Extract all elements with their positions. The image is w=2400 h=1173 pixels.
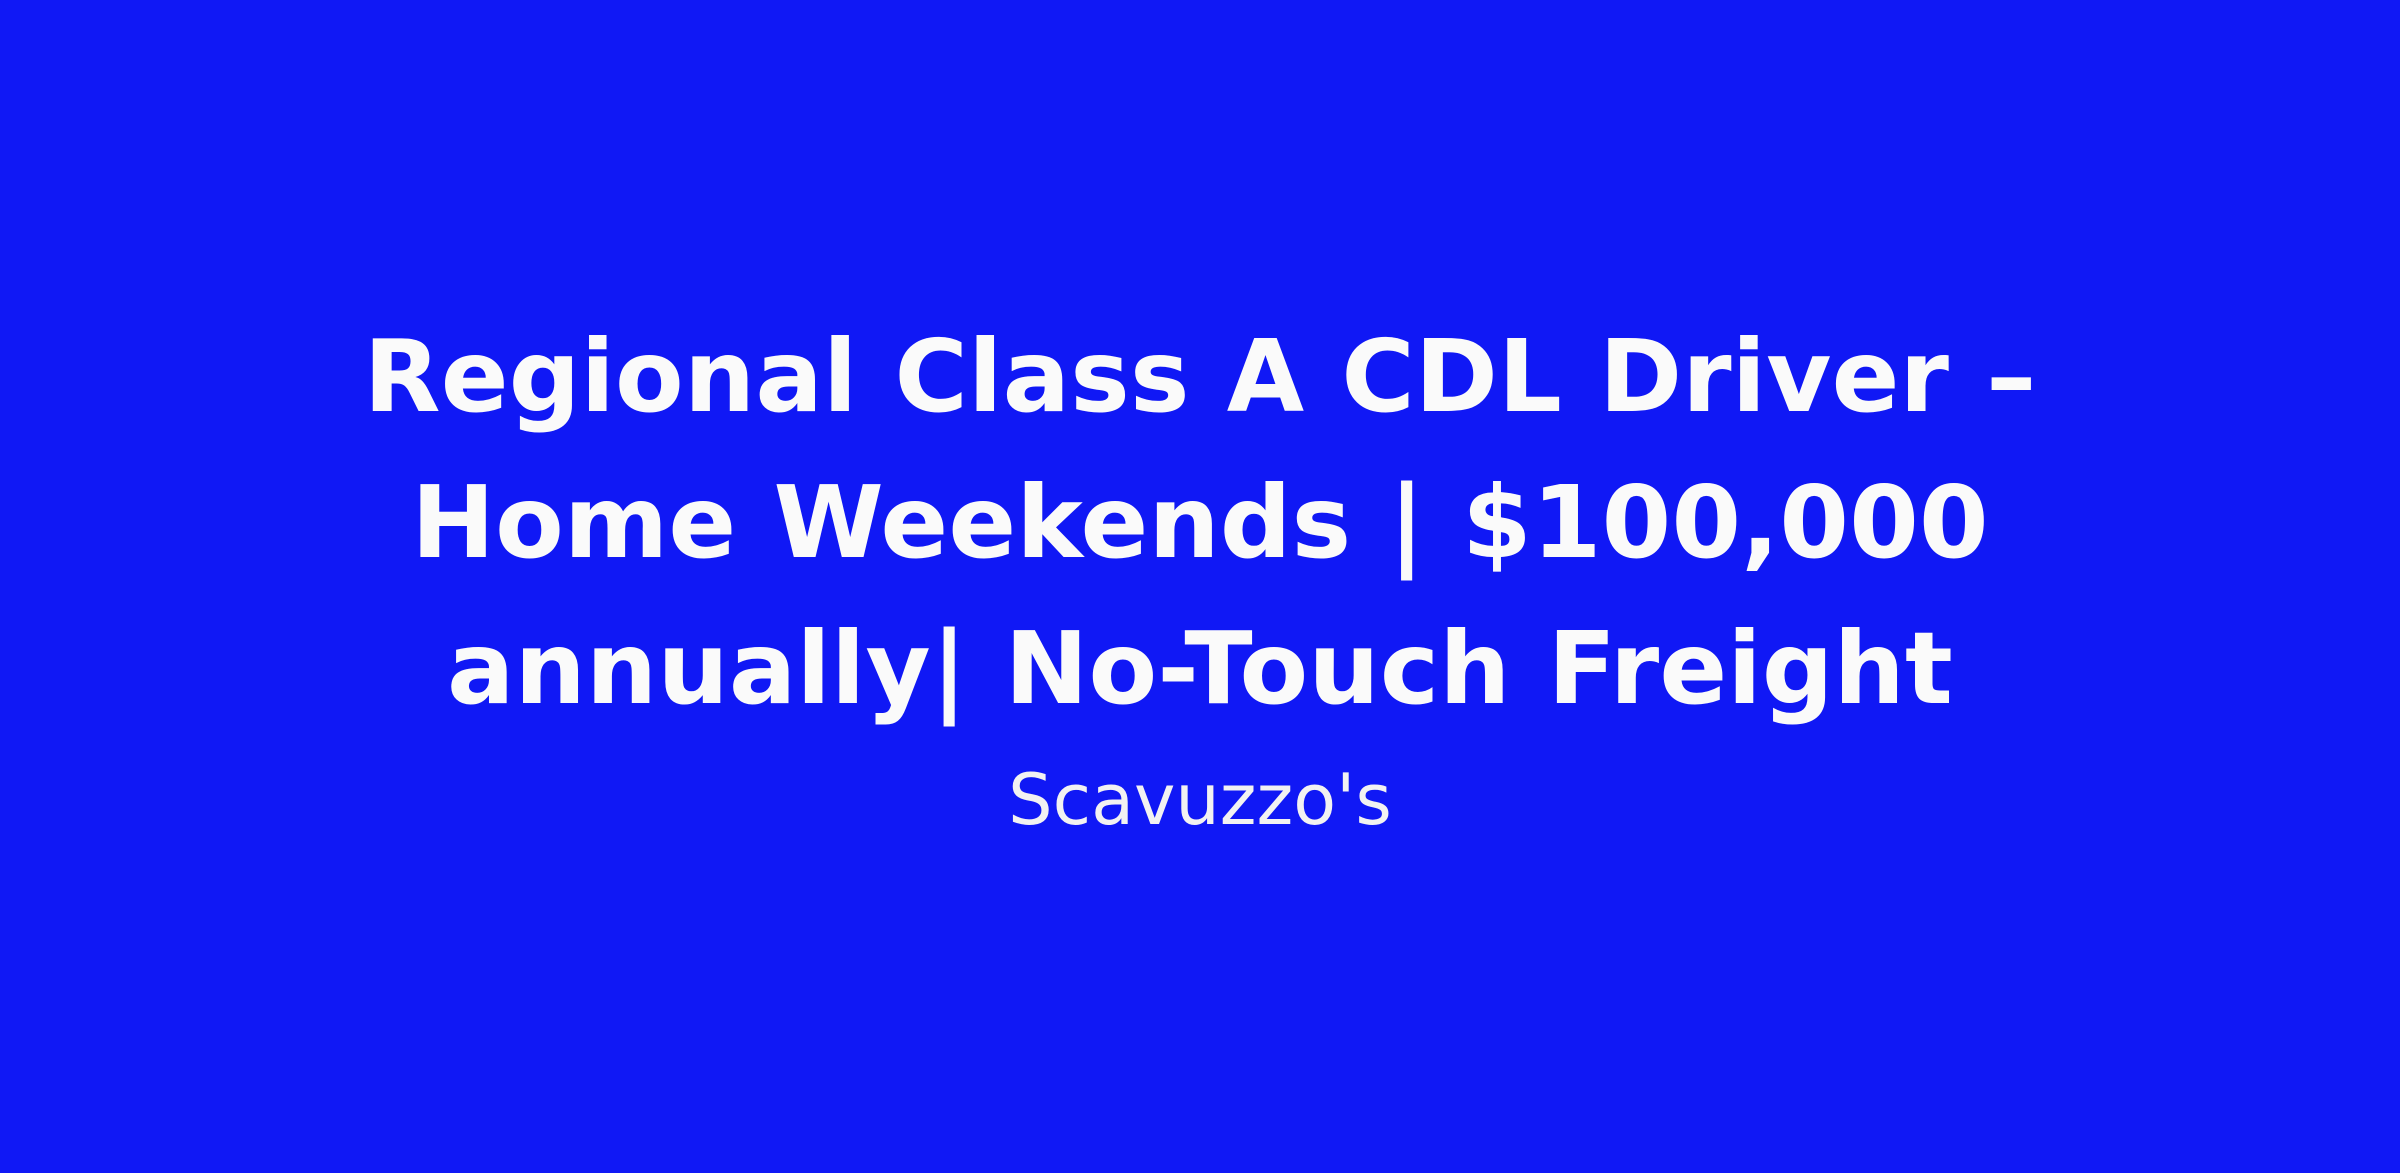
job-posting-banner: Regional Class A CDL Driver – Home Weeke… bbox=[0, 0, 2400, 1173]
company-name: Scavuzzo's bbox=[320, 758, 2080, 842]
page-title: Regional Class A CDL Driver – Home Weeke… bbox=[320, 304, 2080, 742]
banner-text-block: Regional Class A CDL Driver – Home Weeke… bbox=[320, 304, 2080, 842]
